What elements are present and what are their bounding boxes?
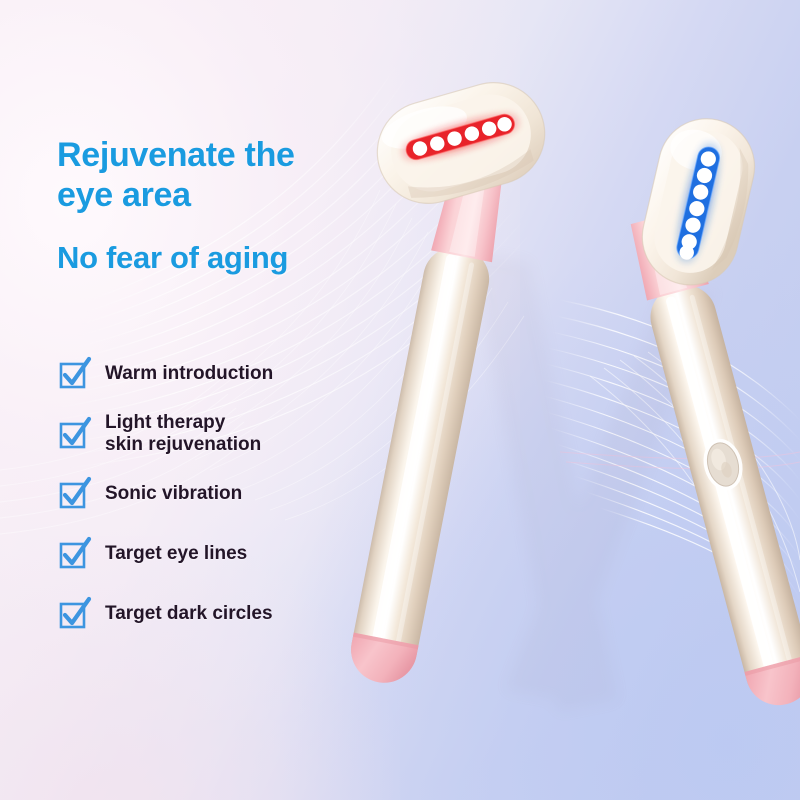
checkbox-checked-icon — [58, 357, 92, 391]
feature-label: Light therapy skin rejuvenation — [105, 412, 261, 456]
checkbox-checked-icon — [58, 477, 92, 511]
feature-label: Warm introduction — [105, 363, 273, 385]
feature-label: Target eye lines — [105, 543, 247, 565]
headline-line-2: eye area — [57, 176, 387, 216]
headline-block: Rejuvenate the eye area — [57, 136, 387, 216]
feature-item-sonic-vibration: Sonic vibration — [58, 472, 388, 516]
feature-label: Sonic vibration — [105, 483, 242, 505]
checkbox-checked-icon — [58, 537, 92, 571]
checkbox-checked-icon — [58, 597, 92, 631]
feature-item-warm-introduction: Warm introduction — [58, 352, 388, 396]
feature-item-light-therapy: Light therapy skin rejuvenation — [58, 412, 388, 456]
feature-label: Target dark circles — [105, 603, 273, 625]
feature-item-target-eye-lines: Target eye lines — [58, 532, 388, 576]
headline-line-1: Rejuvenate the — [57, 136, 387, 176]
checkbox-checked-icon — [58, 417, 92, 451]
feature-item-target-dark-circles: Target dark circles — [58, 592, 388, 636]
feature-list: Warm introduction Light therapy skin rej… — [58, 352, 388, 652]
product-promo-image: Rejuvenate the eye area No fear of aging… — [0, 0, 800, 800]
subheadline: No fear of aging — [57, 240, 397, 276]
